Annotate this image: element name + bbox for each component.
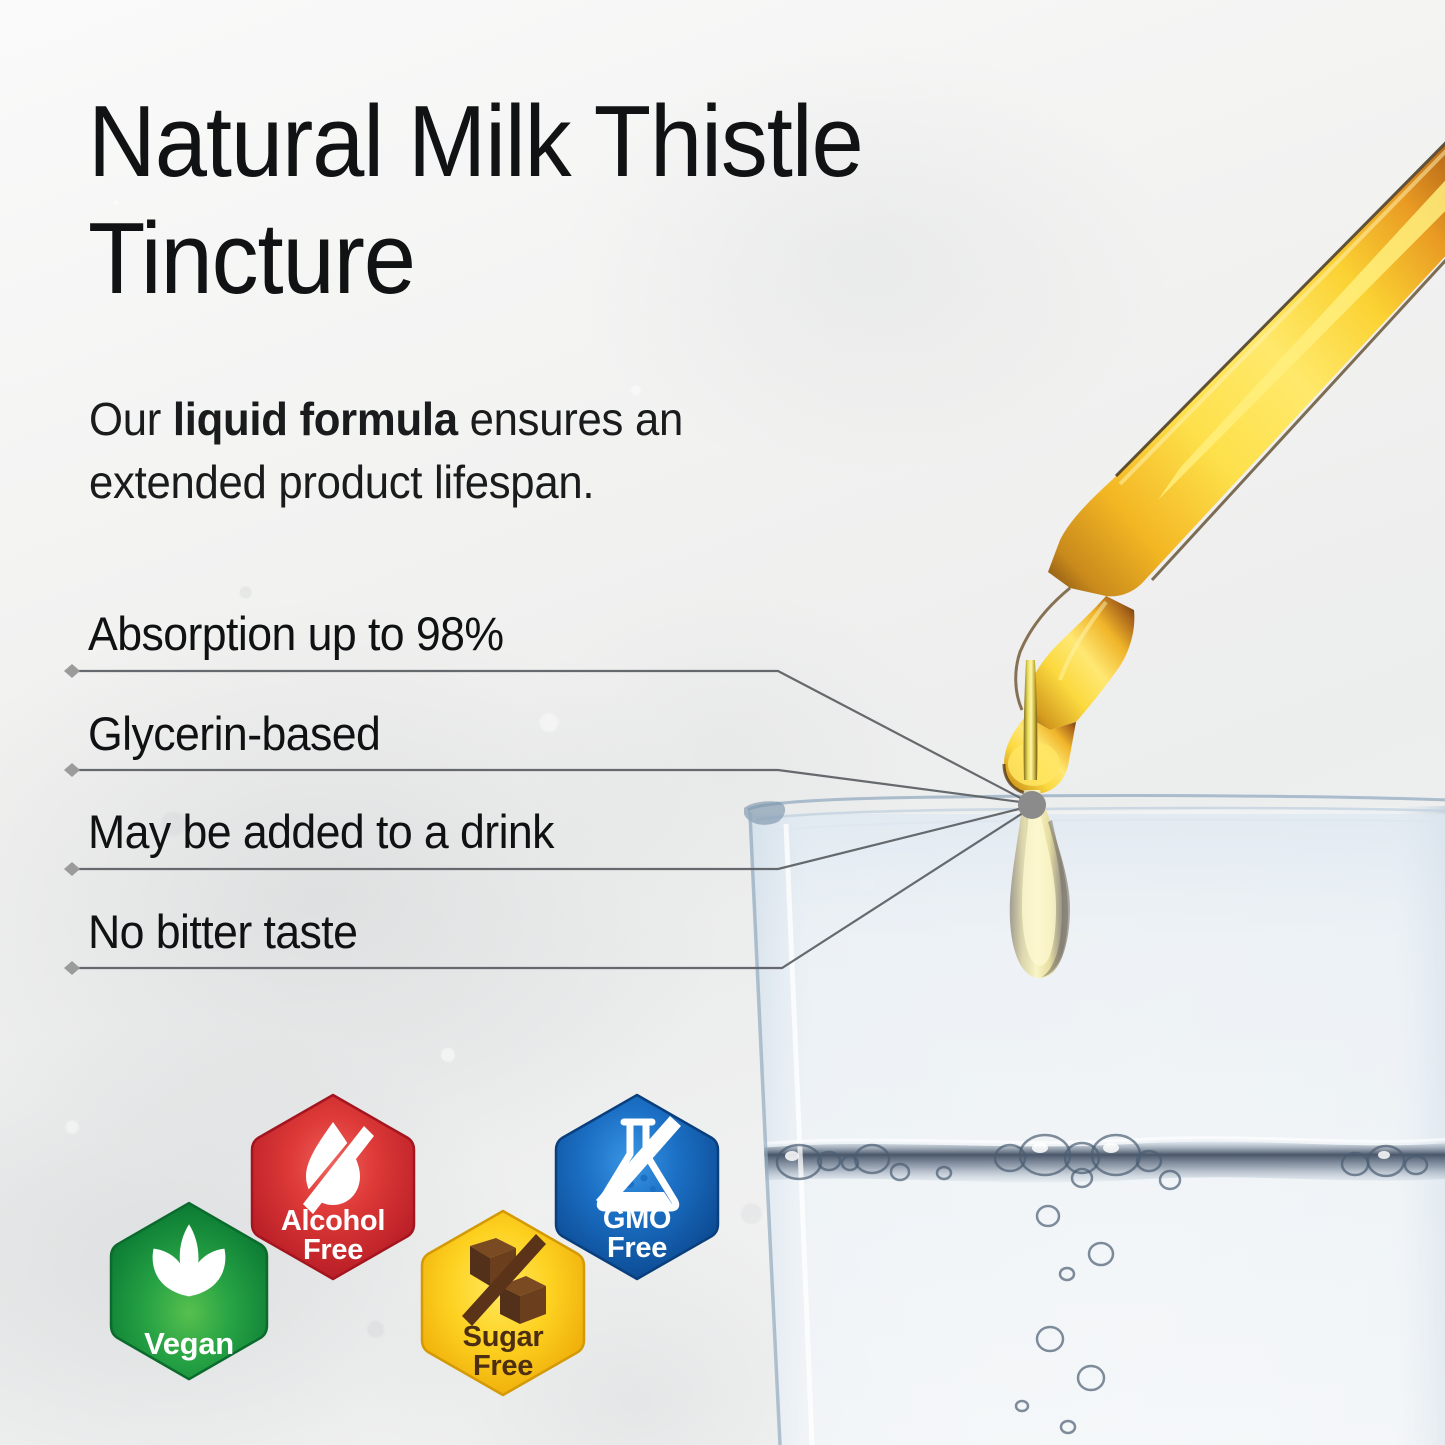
- droplet-svg: [990, 660, 1120, 1060]
- vegan-hex-shape: [108, 1200, 270, 1382]
- badge-alcohol-free: Alcohol Free: [248, 1092, 418, 1282]
- droplet-slash-icon: [248, 1092, 418, 1282]
- alcohol-hex-shape: [248, 1092, 418, 1282]
- badge-sugar-free: Sugar Free: [418, 1208, 588, 1398]
- subtitle-prefix: Our: [89, 393, 173, 445]
- promo-canvas: Natural Milk Thistle Tincture Our liquid…: [0, 0, 1445, 1445]
- badge-vegan: Vegan: [108, 1200, 270, 1382]
- feature-label-drink: May be added to a drink: [88, 808, 554, 855]
- falling-droplet-layer: [990, 660, 1120, 1060]
- page-title: Natural Milk Thistle Tincture: [88, 84, 1055, 318]
- feature-label-taste: No bitter taste: [88, 908, 357, 955]
- subtitle-emphasis: liquid formula: [173, 393, 458, 445]
- pipette-barrel: [1048, 98, 1445, 596]
- leader-convergence-dot: [1018, 791, 1046, 819]
- feature-label-absorption: Absorption up to 98%: [88, 610, 504, 657]
- feature-label-glycerin: Glycerin-based: [88, 710, 380, 757]
- product-subtitle: Our liquid formula ensures an extended p…: [89, 388, 868, 515]
- sugar-hex-shape: [418, 1208, 588, 1398]
- certification-badges: Vegan: [100, 1090, 760, 1390]
